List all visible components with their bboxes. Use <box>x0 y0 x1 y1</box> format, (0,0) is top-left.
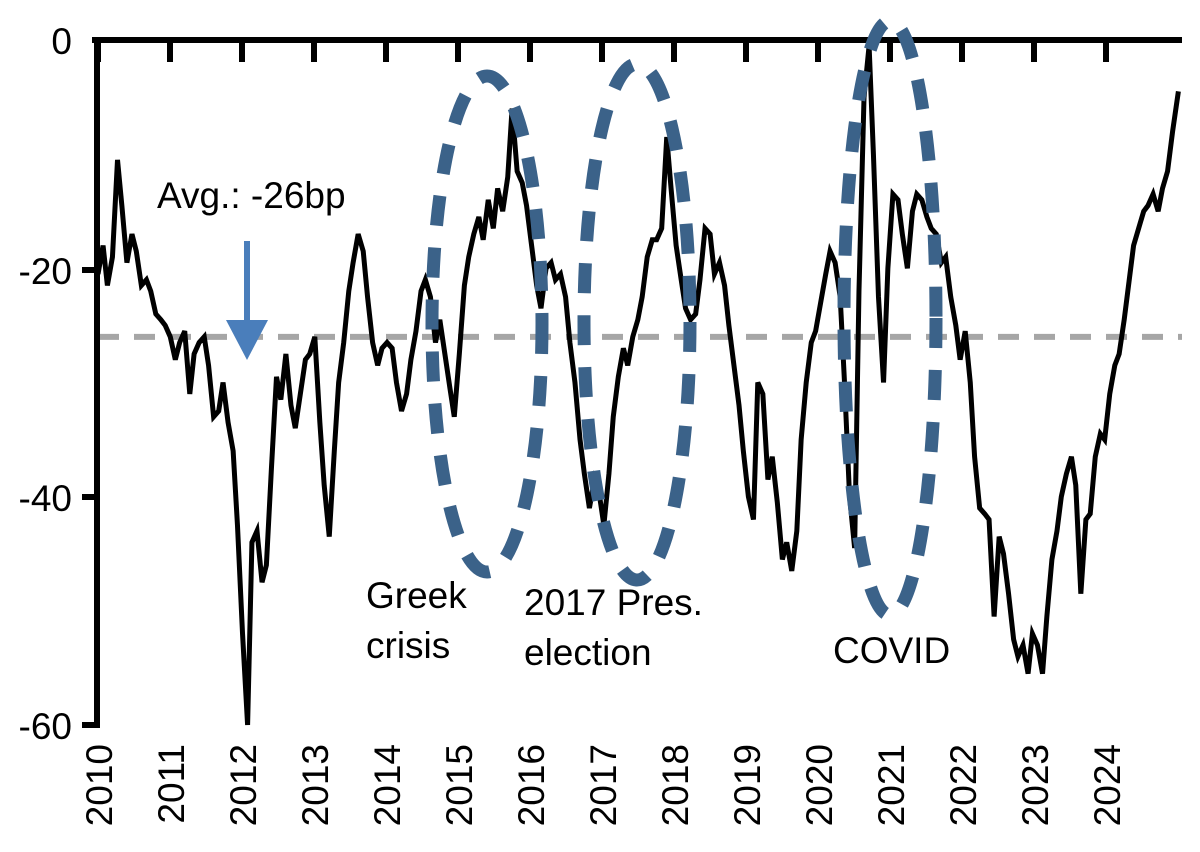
x-tick-label-2016: 2016 <box>511 744 552 826</box>
greek-crisis-label-line1: Greek <box>366 575 467 616</box>
x-tick-label-2015: 2015 <box>439 744 480 826</box>
pres-election-label-line2: election <box>524 632 652 673</box>
x-tick-label-2019: 2019 <box>727 744 768 826</box>
x-tick-label-2017: 2017 <box>583 744 624 826</box>
x-tick-label-2018: 2018 <box>655 744 696 826</box>
y-tick-label-0: 0 <box>51 21 72 62</box>
x-tick-label-2020: 2020 <box>799 744 840 826</box>
x-tick-label-2024: 2024 <box>1087 744 1128 826</box>
x-tick-label-2021: 2021 <box>871 744 912 826</box>
chart-container: 0 -20 -40 -60 2010 2011 2012 2013 2014 2… <box>0 0 1200 852</box>
x-tick-label-2011: 2011 <box>151 744 192 824</box>
covid-label: COVID <box>833 630 950 671</box>
line-chart: 0 -20 -40 -60 2010 2011 2012 2013 2014 2… <box>0 0 1200 852</box>
average-note-label: Avg.: -26bp <box>157 175 346 216</box>
x-tick-label-2012: 2012 <box>223 744 264 826</box>
x-tick-label-2014: 2014 <box>367 744 408 826</box>
x-tick-label-2013: 2013 <box>295 744 336 826</box>
pres-election-label-line1: 2017 Pres. <box>524 582 703 623</box>
x-tick-label-2022: 2022 <box>943 744 984 826</box>
x-tick-label-2023: 2023 <box>1015 744 1056 826</box>
greek-crisis-label-line2: crisis <box>366 625 450 666</box>
x-tick-labels: 2010 2011 2012 2013 2014 2015 2016 2017 … <box>79 744 1128 826</box>
x-tick-label-2010: 2010 <box>79 744 120 826</box>
y-tick-label-minus60: -60 <box>19 706 72 747</box>
y-tick-label-minus20: -20 <box>19 251 72 292</box>
y-tick-label-minus40: -40 <box>19 478 72 519</box>
